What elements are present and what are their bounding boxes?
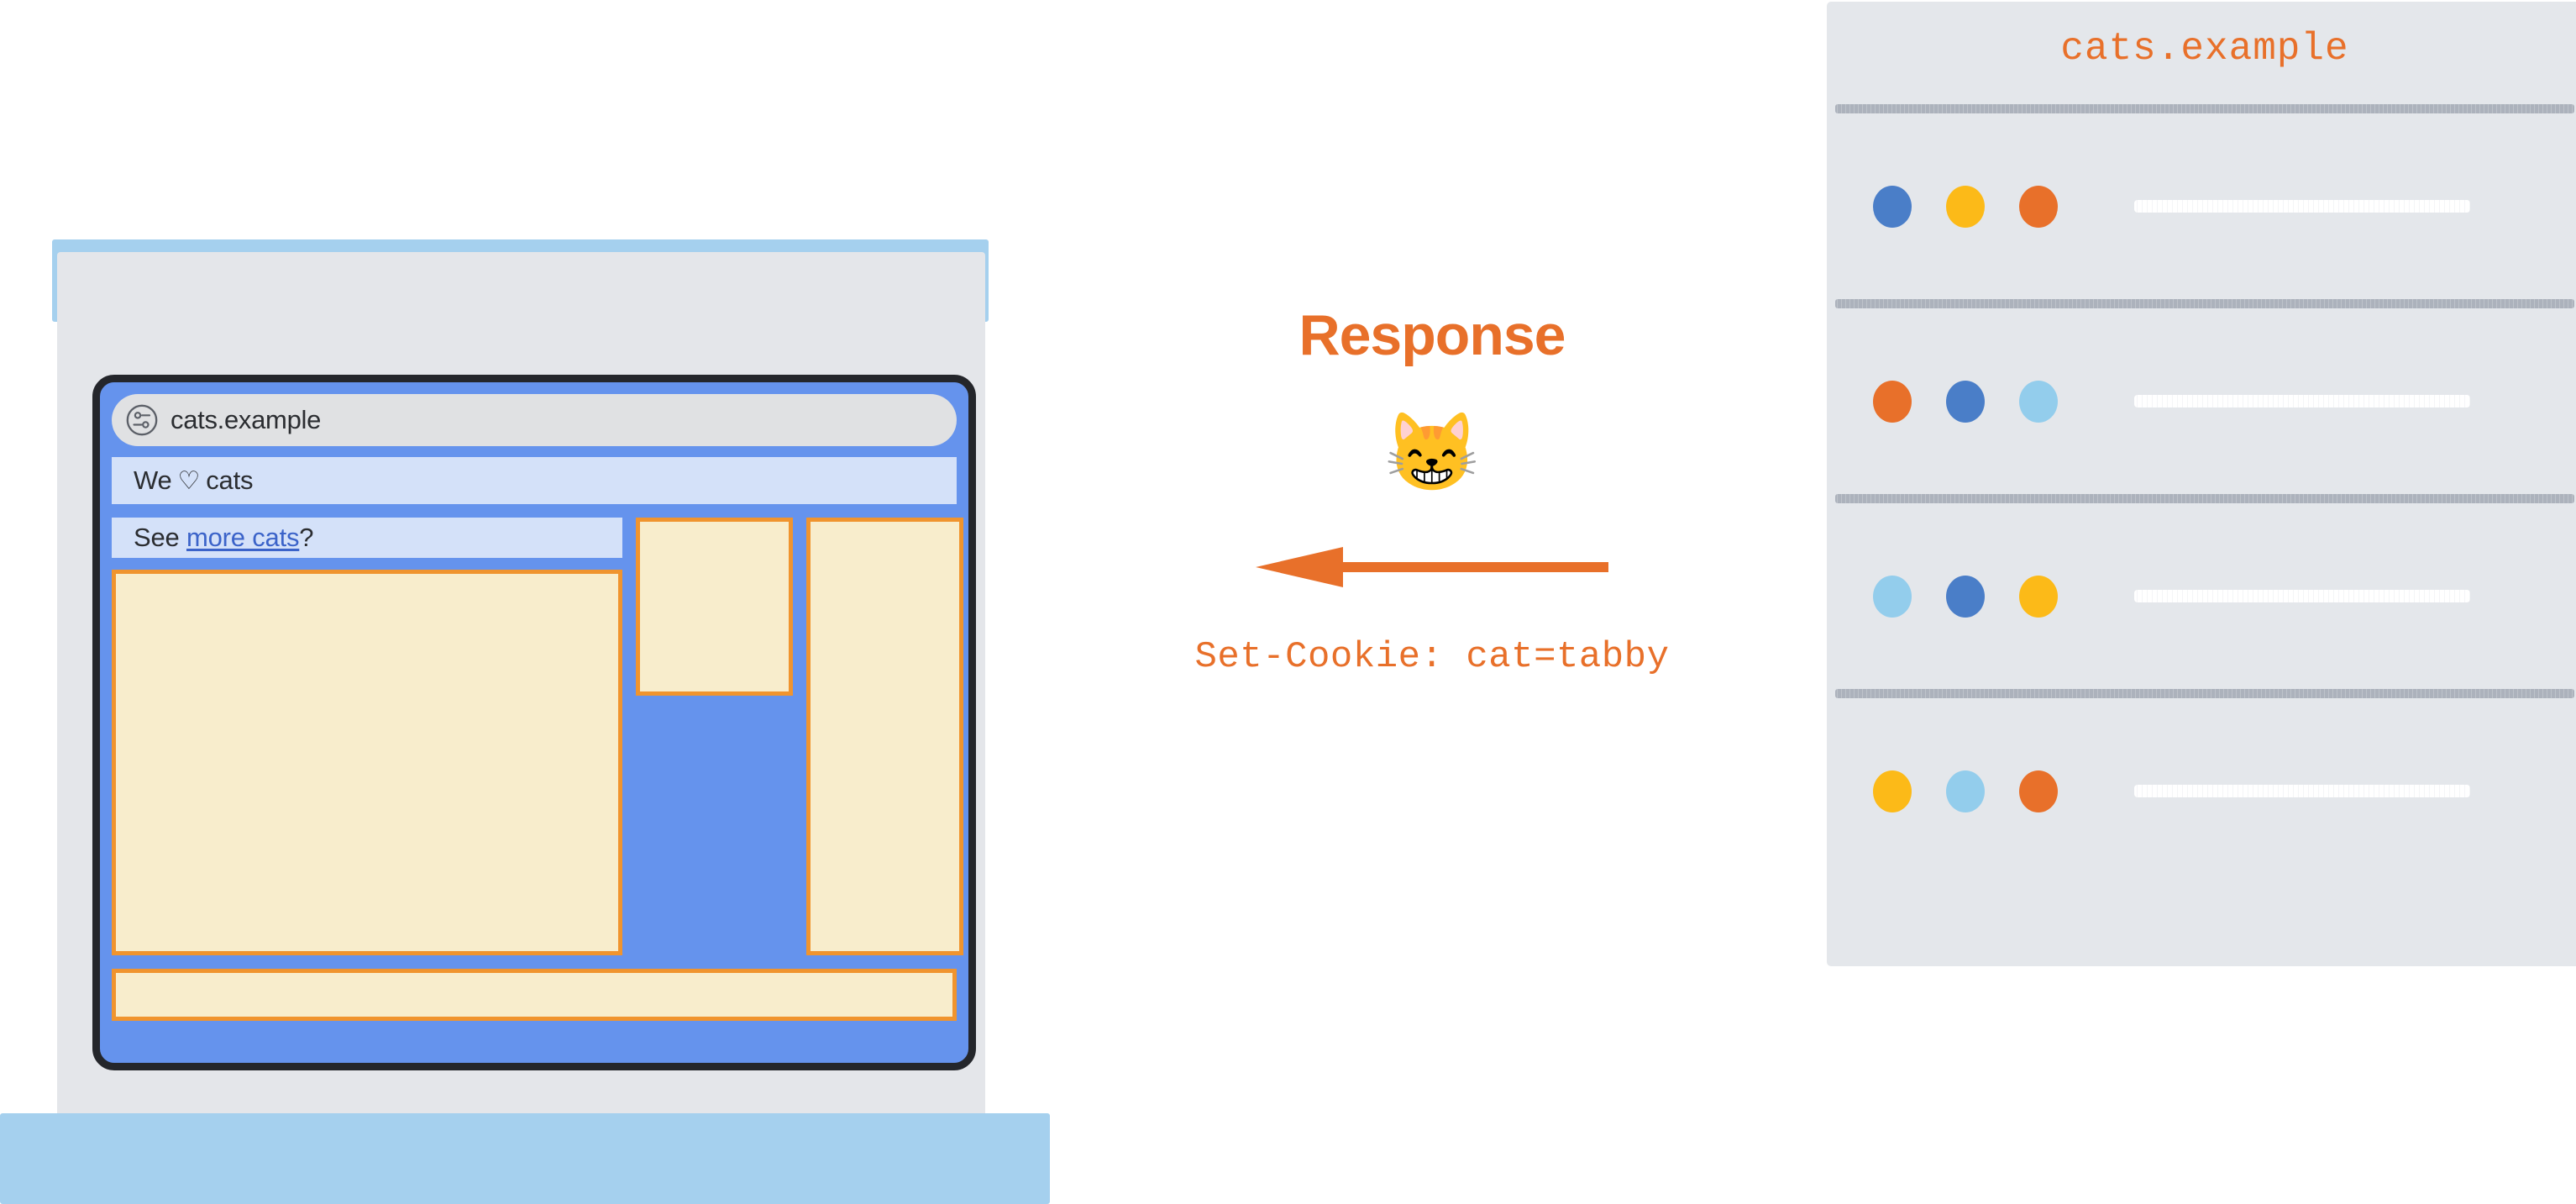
- row-spacer: [1827, 308, 2576, 349]
- page-headline: We ♡ cats: [112, 457, 957, 504]
- site-settings-icon[interactable]: [125, 403, 159, 437]
- column-middle: [636, 518, 793, 955]
- laptop-illustration: cats.example We ♡ cats See more cats ?: [0, 210, 1092, 966]
- more-cats-link[interactable]: more cats: [186, 523, 299, 553]
- browser-content: We ♡ cats See more cats ?: [112, 457, 957, 1021]
- color-dot-icon: [1946, 186, 1985, 228]
- placeholder-text-line: [2134, 200, 2470, 213]
- row-spacer: [1827, 698, 2576, 739]
- heart-icon: ♡: [178, 466, 201, 496]
- color-dot-icon: [1873, 186, 1912, 228]
- headline-suffix: cats: [206, 465, 253, 496]
- server-panel-title: cats.example: [1827, 2, 2576, 71]
- row-spacer: [1827, 649, 2576, 689]
- server-row-list: [1827, 113, 2576, 844]
- response-arrow-wrapper: [1100, 542, 1764, 592]
- panel-divider: [1835, 494, 2574, 503]
- placeholder-text-line: [2134, 590, 2470, 602]
- mid-card: [636, 518, 793, 696]
- response-arrow-left-icon: [1256, 542, 1608, 592]
- list-item[interactable]: [1827, 154, 2576, 259]
- laptop-base: [0, 1113, 1050, 1204]
- panel-divider: [1835, 689, 2574, 698]
- list-item[interactable]: [1827, 544, 2576, 649]
- color-dot-icon: [2019, 770, 2058, 812]
- grinning-cat-emoji: 😸: [1100, 414, 1764, 492]
- row-spacer: [1827, 113, 2576, 154]
- column-right: [806, 518, 963, 955]
- content-columns: See more cats ?: [112, 518, 957, 955]
- list-item[interactable]: [1827, 349, 2576, 454]
- placeholder-text-line: [2134, 395, 2470, 407]
- color-dot-icon: [1946, 381, 1985, 423]
- browser-window: cats.example We ♡ cats See more cats ?: [92, 375, 976, 1070]
- headline-prefix: We: [134, 465, 172, 496]
- row-spacer: [1827, 259, 2576, 299]
- browser-url-bar[interactable]: cats.example: [112, 394, 957, 446]
- response-section: Response 😸 Set-Cookie: cat=tabby: [1100, 286, 1764, 807]
- server-panel: cats.example: [1827, 2, 2576, 966]
- link-row-suffix: ?: [299, 523, 313, 553]
- row-spacer: [1827, 454, 2576, 494]
- see-more-cats-row: See more cats ?: [112, 518, 622, 558]
- placeholder-text-line: [2134, 785, 2470, 797]
- list-item[interactable]: [1827, 739, 2576, 844]
- response-title: Response: [1100, 302, 1764, 368]
- color-dot-icon: [1873, 770, 1912, 812]
- color-dot-icon: [1946, 770, 1985, 812]
- color-dot-icon: [2019, 576, 2058, 618]
- color-dot-icon: [2019, 381, 2058, 423]
- row-spacer: [1827, 503, 2576, 544]
- hero-card: [112, 570, 622, 955]
- set-cookie-header-text: Set-Cookie: cat=tabby: [1100, 636, 1764, 678]
- color-dot-icon: [2019, 186, 2058, 228]
- browser-url-text: cats.example: [171, 405, 321, 435]
- column-left: See more cats ?: [112, 518, 622, 955]
- tall-card: [806, 518, 963, 955]
- panel-divider: [1835, 104, 2574, 113]
- color-dot-icon: [1873, 381, 1912, 423]
- color-dot-icon: [1873, 576, 1912, 618]
- color-dot-icon: [1946, 576, 1985, 618]
- panel-divider: [1835, 299, 2574, 308]
- link-row-prefix: See: [134, 523, 180, 553]
- footer-card: [112, 969, 957, 1021]
